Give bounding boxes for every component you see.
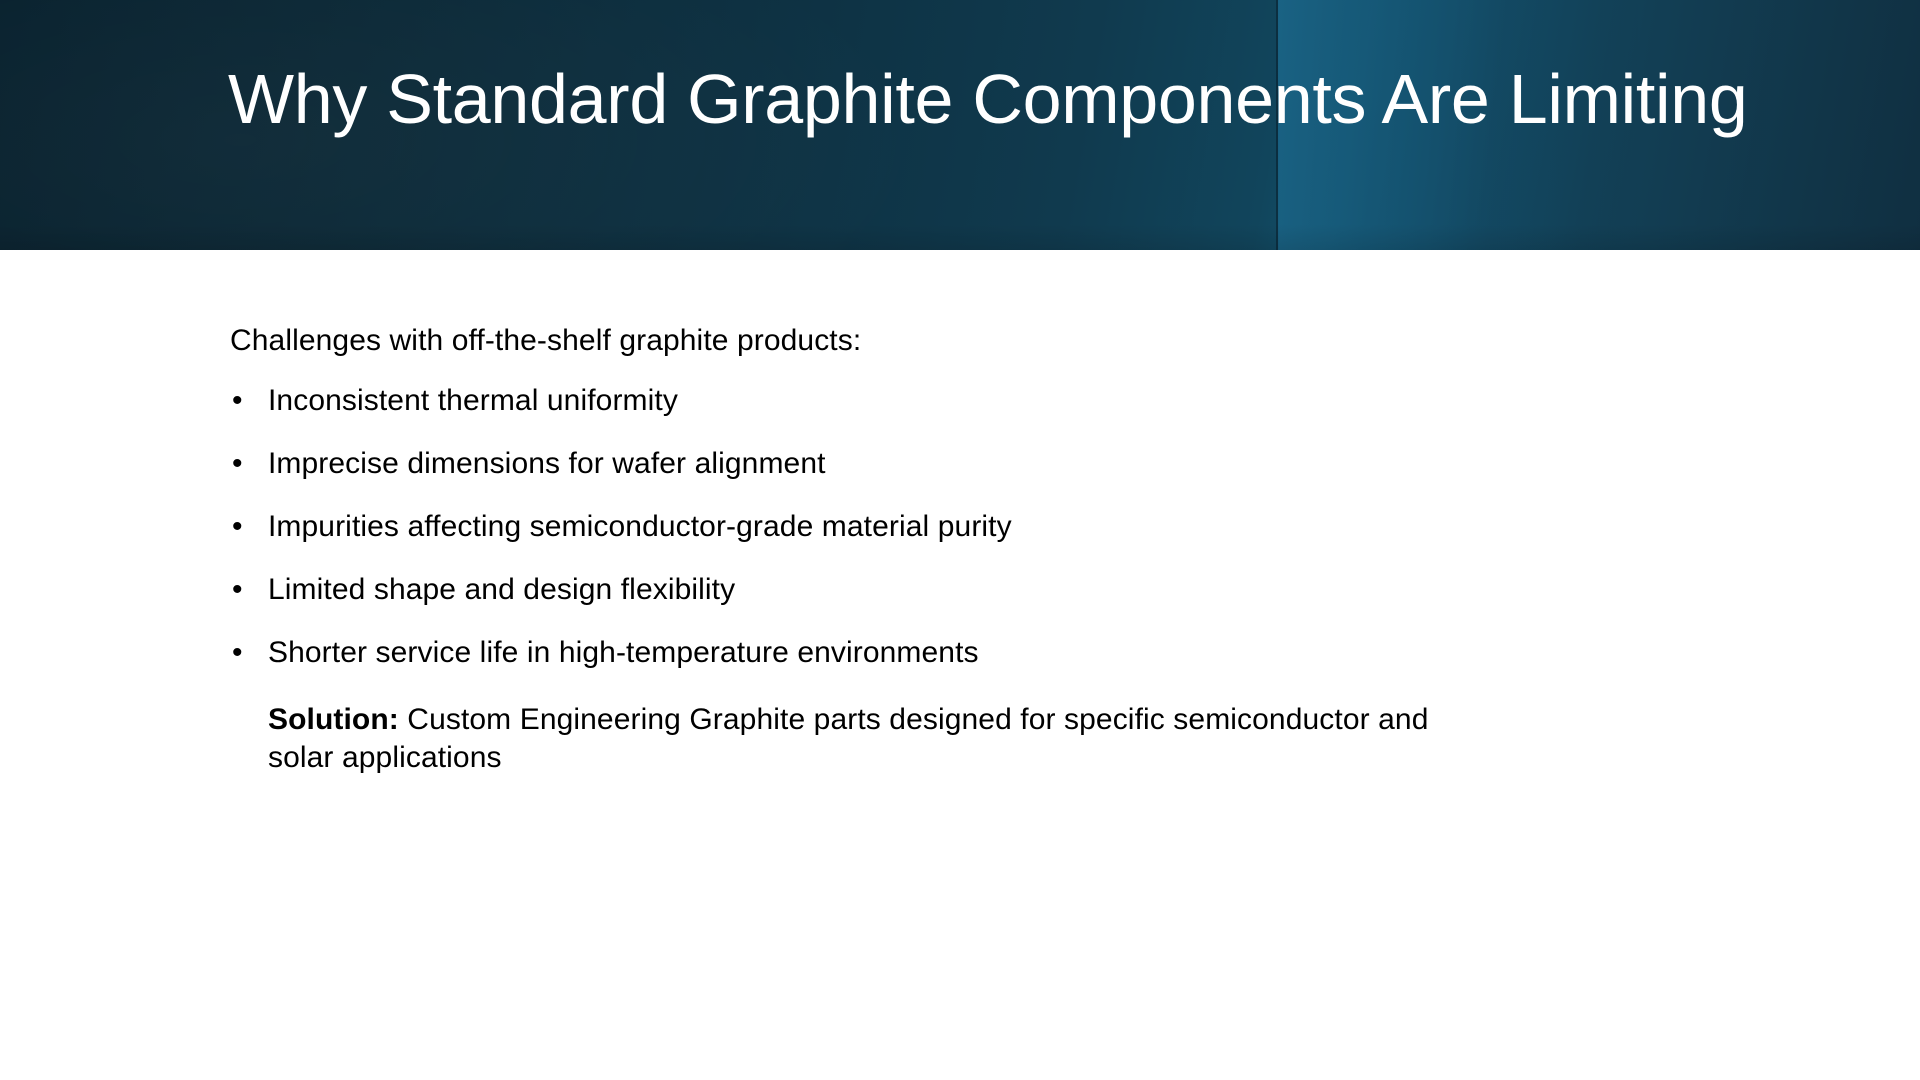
slide-body: Challenges with off-the-shelf graphite p… (0, 250, 1920, 1080)
list-item-label: Limited shape and design flexibility (268, 573, 735, 606)
solution-text: Custom Engineering Graphite parts design… (268, 703, 1429, 774)
slide-header-band: Why Standard Graphite Components Are Lim… (0, 0, 1920, 250)
list-item-label: Shorter service life in high-temperature… (268, 636, 979, 669)
list-item: • Shorter service life in high-temperatu… (230, 638, 1790, 668)
bullet-point-icon: • (232, 512, 252, 542)
presentation-slide: Why Standard Graphite Components Are Lim… (0, 0, 1920, 1080)
intro-text: Challenges with off-the-shelf graphite p… (230, 326, 1790, 356)
bullet-point-icon: • (232, 575, 252, 605)
content-block: Challenges with off-the-shelf graphite p… (230, 326, 1790, 776)
list-item: • Impurities affecting semiconductor-gra… (230, 512, 1790, 542)
slide-title: Why Standard Graphite Components Are Lim… (228, 58, 1768, 141)
list-item-label: Imprecise dimensions for wafer alignment (268, 447, 826, 480)
list-item-label: Impurities affecting semiconductor-grade… (268, 510, 1012, 543)
solution-paragraph: Solution: Custom Engineering Graphite pa… (268, 701, 1448, 776)
bullet-point-icon: • (232, 386, 252, 416)
bullet-point-icon: • (232, 449, 252, 479)
list-item: • Imprecise dimensions for wafer alignme… (230, 449, 1790, 479)
list-item: • Inconsistent thermal uniformity (230, 386, 1790, 416)
header-bottom-shade (0, 224, 1920, 250)
challenges-bullet-list: • Inconsistent thermal uniformity • Impr… (230, 386, 1790, 668)
list-item: • Limited shape and design flexibility (230, 575, 1790, 605)
list-item-label: Inconsistent thermal uniformity (268, 384, 678, 417)
solution-label: Solution: (268, 703, 399, 736)
bullet-point-icon: • (232, 638, 252, 668)
